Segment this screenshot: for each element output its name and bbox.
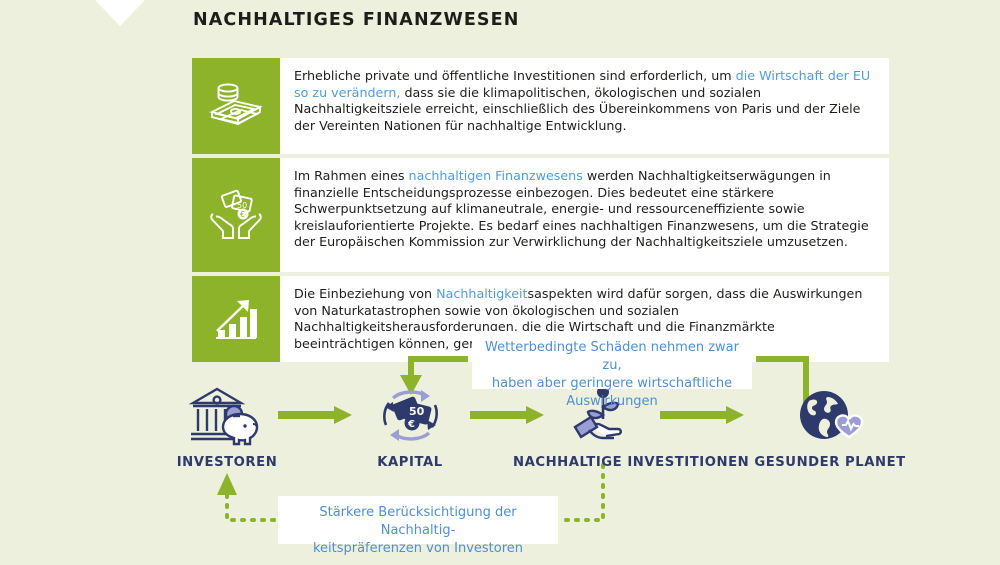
flow-arrow-up-to-investoren	[217, 473, 237, 495]
bank-piggybank-icon	[137, 381, 317, 447]
page-title: NACHHALTIGES FINANZWESEN	[193, 10, 519, 30]
callout-line: keitspräferenzen von Investoren	[288, 540, 548, 558]
flow-node-label: GESUNDER PLANET	[740, 455, 920, 470]
info-row-text: Erhebliche private und öffentliche Inves…	[280, 58, 889, 154]
globe-heart-icon	[740, 381, 920, 447]
info-row-text: Im Rahmen eines nachhaltigen Finanzwesen…	[280, 158, 889, 272]
flow-node-kapital: 50 € KAPITAL	[320, 381, 500, 470]
svg-text:€: €	[407, 419, 415, 430]
flow-node-label: NACHHALTIGE INVESTITIONEN	[513, 455, 693, 470]
flow-connector-callout-to-investoren	[227, 492, 274, 520]
info-row: 50 € Im Rahmen eines nachhaltigen Finanz…	[192, 158, 889, 272]
flow-node-investoren: INVESTOREN	[137, 381, 317, 470]
text-segment-highlight: nachhaltigen Finanzwesens	[409, 168, 583, 183]
svg-text:€: €	[240, 210, 245, 219]
flow-node-planet: GESUNDER PLANET	[740, 381, 920, 470]
info-row: Erhebliche private und öffentliche Inves…	[192, 58, 889, 154]
flow-node-label: INVESTOREN	[137, 455, 317, 470]
text-segment: Die Einbeziehung von	[294, 286, 436, 301]
text-segment: Im Rahmen eines	[294, 168, 409, 183]
callout-line: Wetterbedingte Schäden nehmen zwar zu,	[482, 339, 742, 375]
callout-line: Auswirkungen	[482, 393, 742, 411]
corner-triangle-decoration	[95, 0, 145, 26]
flow-diagram: INVESTOREN 50	[0, 315, 1000, 565]
text-segment: Erhebliche private und öffentliche Inves…	[294, 68, 736, 83]
flow-connector-investitionen-to-callout	[562, 465, 603, 520]
flow-node-label: KAPITAL	[320, 455, 500, 470]
text-segment-highlight: Nachhaltigkeit	[436, 286, 527, 301]
callout-investor-preferences: Stärkere Berücksichtigung der Nachhaltig…	[278, 496, 558, 544]
callout-line: haben aber geringere wirtschaftliche	[482, 375, 742, 393]
flow-connector-callout-to-kapital	[411, 359, 468, 377]
hands-holding-money-icon: 50 €	[192, 158, 280, 272]
money-stack-icon	[192, 58, 280, 154]
callout-weather-damage: Wetterbedingte Schäden nehmen zwar zu, h…	[472, 331, 752, 389]
money-recycle-icon: 50 €	[320, 381, 500, 447]
callout-line: Stärkere Berücksichtigung der Nachhaltig…	[288, 504, 548, 540]
